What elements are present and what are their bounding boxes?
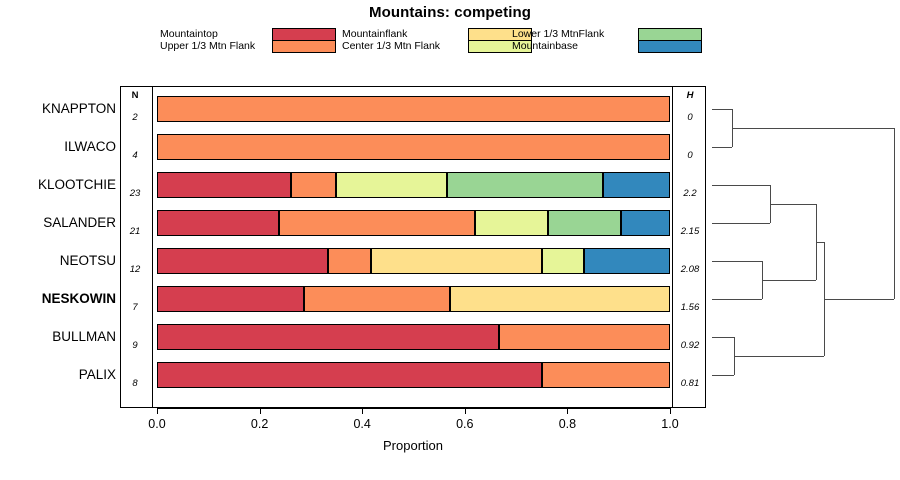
dendrogram-branch xyxy=(762,280,816,281)
dendrogram-branch xyxy=(734,356,824,357)
bar-segment[interactable] xyxy=(475,210,548,236)
bar-segment[interactable] xyxy=(157,134,670,160)
legend-labels-group: MountainflankCenter 1/3 Mtn Flank xyxy=(342,28,440,52)
h-value: 1.56 xyxy=(672,302,708,313)
bar-segment[interactable] xyxy=(621,210,670,236)
x-axis-label: Proportion xyxy=(120,438,706,453)
x-axis-tick-label: 0.6 xyxy=(445,417,485,431)
n-column-divider xyxy=(152,86,153,408)
n-value: 8 xyxy=(120,378,150,389)
n-value: 23 xyxy=(120,188,150,199)
n-value: 4 xyxy=(120,150,150,161)
bar-row xyxy=(157,324,670,350)
chart-root: Mountains: competing MountaintopUpper 1/… xyxy=(0,0,900,480)
legend-swatch xyxy=(639,40,701,52)
h-value: 0.81 xyxy=(672,378,708,389)
bar-row xyxy=(157,210,670,236)
bar-row xyxy=(157,286,670,312)
bar-segment[interactable] xyxy=(328,248,371,274)
legend-label: Mountaintop xyxy=(160,28,255,40)
bar-segment[interactable] xyxy=(542,248,585,274)
row-label-bullman: BULLMAN xyxy=(4,329,116,345)
x-axis-tick xyxy=(670,408,671,414)
n-value: 9 xyxy=(120,340,150,351)
bar-segment[interactable] xyxy=(279,210,474,236)
dendrogram xyxy=(706,86,900,408)
dendrogram-join xyxy=(894,128,895,299)
dendrogram-branch xyxy=(712,223,770,224)
h-value: 2.15 xyxy=(672,226,708,237)
legend-swatch xyxy=(639,29,701,40)
legend-label: Mountainflank xyxy=(342,28,440,40)
bar-segment[interactable] xyxy=(157,210,279,236)
legend-labels-group: Lower 1/3 MtnFlankMountainbase xyxy=(512,28,604,52)
legend-swatch xyxy=(273,29,335,40)
legend-swatch xyxy=(273,40,335,52)
row-label-neotsu: NEOTSU xyxy=(4,253,116,269)
dendrogram-branch xyxy=(712,299,762,300)
x-axis-tick-label: 0.4 xyxy=(342,417,382,431)
row-label-salander: SALANDER xyxy=(4,215,116,231)
dendrogram-branch xyxy=(712,147,732,148)
row-label-neskowin: NESKOWIN xyxy=(4,291,116,307)
h-value: 0.92 xyxy=(672,340,708,351)
x-axis-line xyxy=(157,408,670,409)
x-axis-tick xyxy=(567,408,568,414)
legend-label: Lower 1/3 MtnFlank xyxy=(512,28,604,40)
bar-row xyxy=(157,96,670,122)
dendrogram-branch xyxy=(824,299,894,300)
x-axis-tick xyxy=(465,408,466,414)
row-label-palix: PALIX xyxy=(4,367,116,383)
bar-row xyxy=(157,248,670,274)
bar-segment[interactable] xyxy=(157,248,328,274)
x-axis-tick-label: 1.0 xyxy=(650,417,690,431)
bar-segment[interactable] xyxy=(548,210,621,236)
dendrogram-branch xyxy=(712,375,734,376)
bar-segment[interactable] xyxy=(157,286,304,312)
legend-swatch-group xyxy=(272,28,336,53)
x-axis-tick-label: 0.8 xyxy=(547,417,587,431)
h-value: 0 xyxy=(672,112,708,123)
bar-segment[interactable] xyxy=(291,172,336,198)
n-value: 12 xyxy=(120,264,150,275)
bar-segment[interactable] xyxy=(603,172,670,198)
legend-label: Center 1/3 Mtn Flank xyxy=(342,40,440,52)
n-value: 7 xyxy=(120,302,150,313)
legend-label: Upper 1/3 Mtn Flank xyxy=(160,40,255,52)
bar-segment[interactable] xyxy=(450,286,670,312)
row-label-klootchie: KLOOTCHIE xyxy=(4,177,116,193)
row-label-ilwaco: ILWACO xyxy=(4,139,116,155)
dendrogram-branch xyxy=(712,109,732,110)
bar-segment[interactable] xyxy=(499,324,670,350)
bar-segment[interactable] xyxy=(542,362,670,388)
n-column-header: N xyxy=(120,90,150,101)
legend-swatch-group xyxy=(638,28,702,53)
dendrogram-branch xyxy=(712,337,734,338)
bar-segment[interactable] xyxy=(157,324,499,350)
dendrogram-branch xyxy=(770,204,816,205)
bar-row xyxy=(157,134,670,160)
bar-segment[interactable] xyxy=(336,172,447,198)
n-value: 2 xyxy=(120,112,150,123)
x-axis-tick xyxy=(362,408,363,414)
row-label-knappton: KNAPPTON xyxy=(4,101,116,117)
x-axis-tick-label: 0.0 xyxy=(137,417,177,431)
h-value: 2.08 xyxy=(672,264,708,275)
bar-segment[interactable] xyxy=(447,172,603,198)
legend-labels-group: MountaintopUpper 1/3 Mtn Flank xyxy=(160,28,255,52)
legend: MountaintopUpper 1/3 Mtn FlankMountainfl… xyxy=(160,28,740,62)
legend-label: Mountainbase xyxy=(512,40,604,52)
h-value: 2.2 xyxy=(672,188,708,199)
x-axis-tick xyxy=(260,408,261,414)
bar-segment[interactable] xyxy=(584,248,670,274)
dendrogram-branch xyxy=(816,242,824,243)
bar-segment[interactable] xyxy=(157,362,542,388)
bar-row xyxy=(157,362,670,388)
n-value: 21 xyxy=(120,226,150,237)
dendrogram-branch xyxy=(712,261,762,262)
bar-segment[interactable] xyxy=(371,248,542,274)
h-value: 0 xyxy=(672,150,708,161)
x-axis-tick xyxy=(157,408,158,414)
dendrogram-branch xyxy=(732,128,894,129)
dendrogram-branch xyxy=(712,185,770,186)
bar-segment[interactable] xyxy=(157,96,670,122)
h-column-header: H xyxy=(672,90,708,101)
bar-segment[interactable] xyxy=(157,172,291,198)
page-title: Mountains: competing xyxy=(0,4,900,21)
bar-segment[interactable] xyxy=(304,286,450,312)
x-axis-tick-label: 0.2 xyxy=(240,417,280,431)
n-column: N24232112798 xyxy=(120,86,152,408)
stacked-bars xyxy=(157,86,670,408)
row-label-list: KNAPPTONILWACOKLOOTCHIESALANDERNEOTSUNES… xyxy=(0,86,116,408)
bar-row xyxy=(157,172,670,198)
